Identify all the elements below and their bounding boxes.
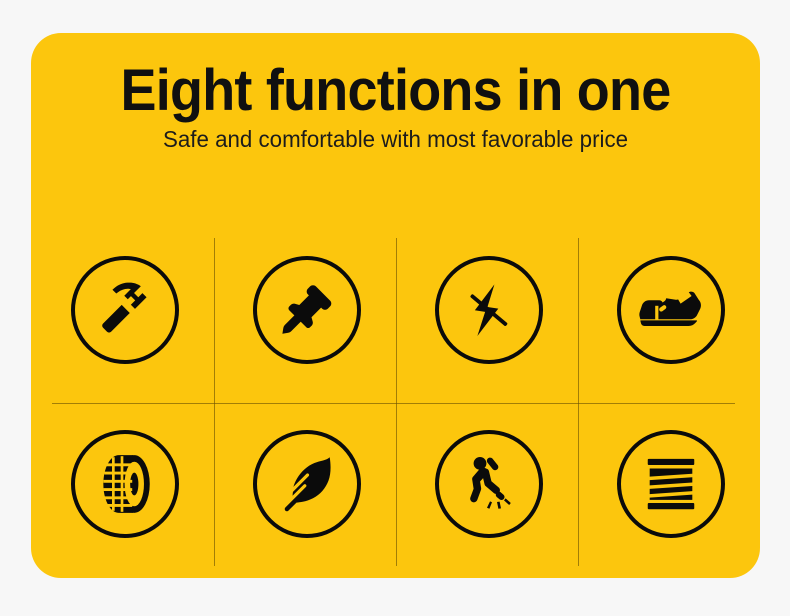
feature-cell-anti-static[interactable] <box>398 217 580 403</box>
feature-cell-safety-shoe[interactable] <box>580 217 762 403</box>
page-subtitle: Safe and comfortable with most favorable… <box>42 120 749 154</box>
card-header: Eight functions in one Safe and comforta… <box>31 33 760 154</box>
page-title: Eight functions in one <box>57 33 735 120</box>
feature-cell-anti-smash[interactable] <box>34 217 216 403</box>
feature-grid <box>31 205 760 578</box>
feature-cell-lightweight[interactable] <box>216 391 398 577</box>
hammer-icon <box>71 256 179 364</box>
slip-fall-icon <box>435 430 543 538</box>
feature-cell-wear-resistant[interactable] <box>34 391 216 577</box>
feature-cell-anti-slip[interactable] <box>398 391 580 577</box>
feather-icon <box>253 430 361 538</box>
feature-cell-anti-puncture[interactable] <box>216 217 398 403</box>
lightning-slash-icon <box>435 256 543 364</box>
feature-cell-shock-absorbing[interactable] <box>580 391 762 577</box>
coil-spring-icon <box>617 430 725 538</box>
push-pin-icon <box>253 256 361 364</box>
tire-icon <box>71 430 179 538</box>
feature-card: Eight functions in one Safe and comforta… <box>31 33 760 578</box>
safety-shoe-icon <box>617 256 725 364</box>
